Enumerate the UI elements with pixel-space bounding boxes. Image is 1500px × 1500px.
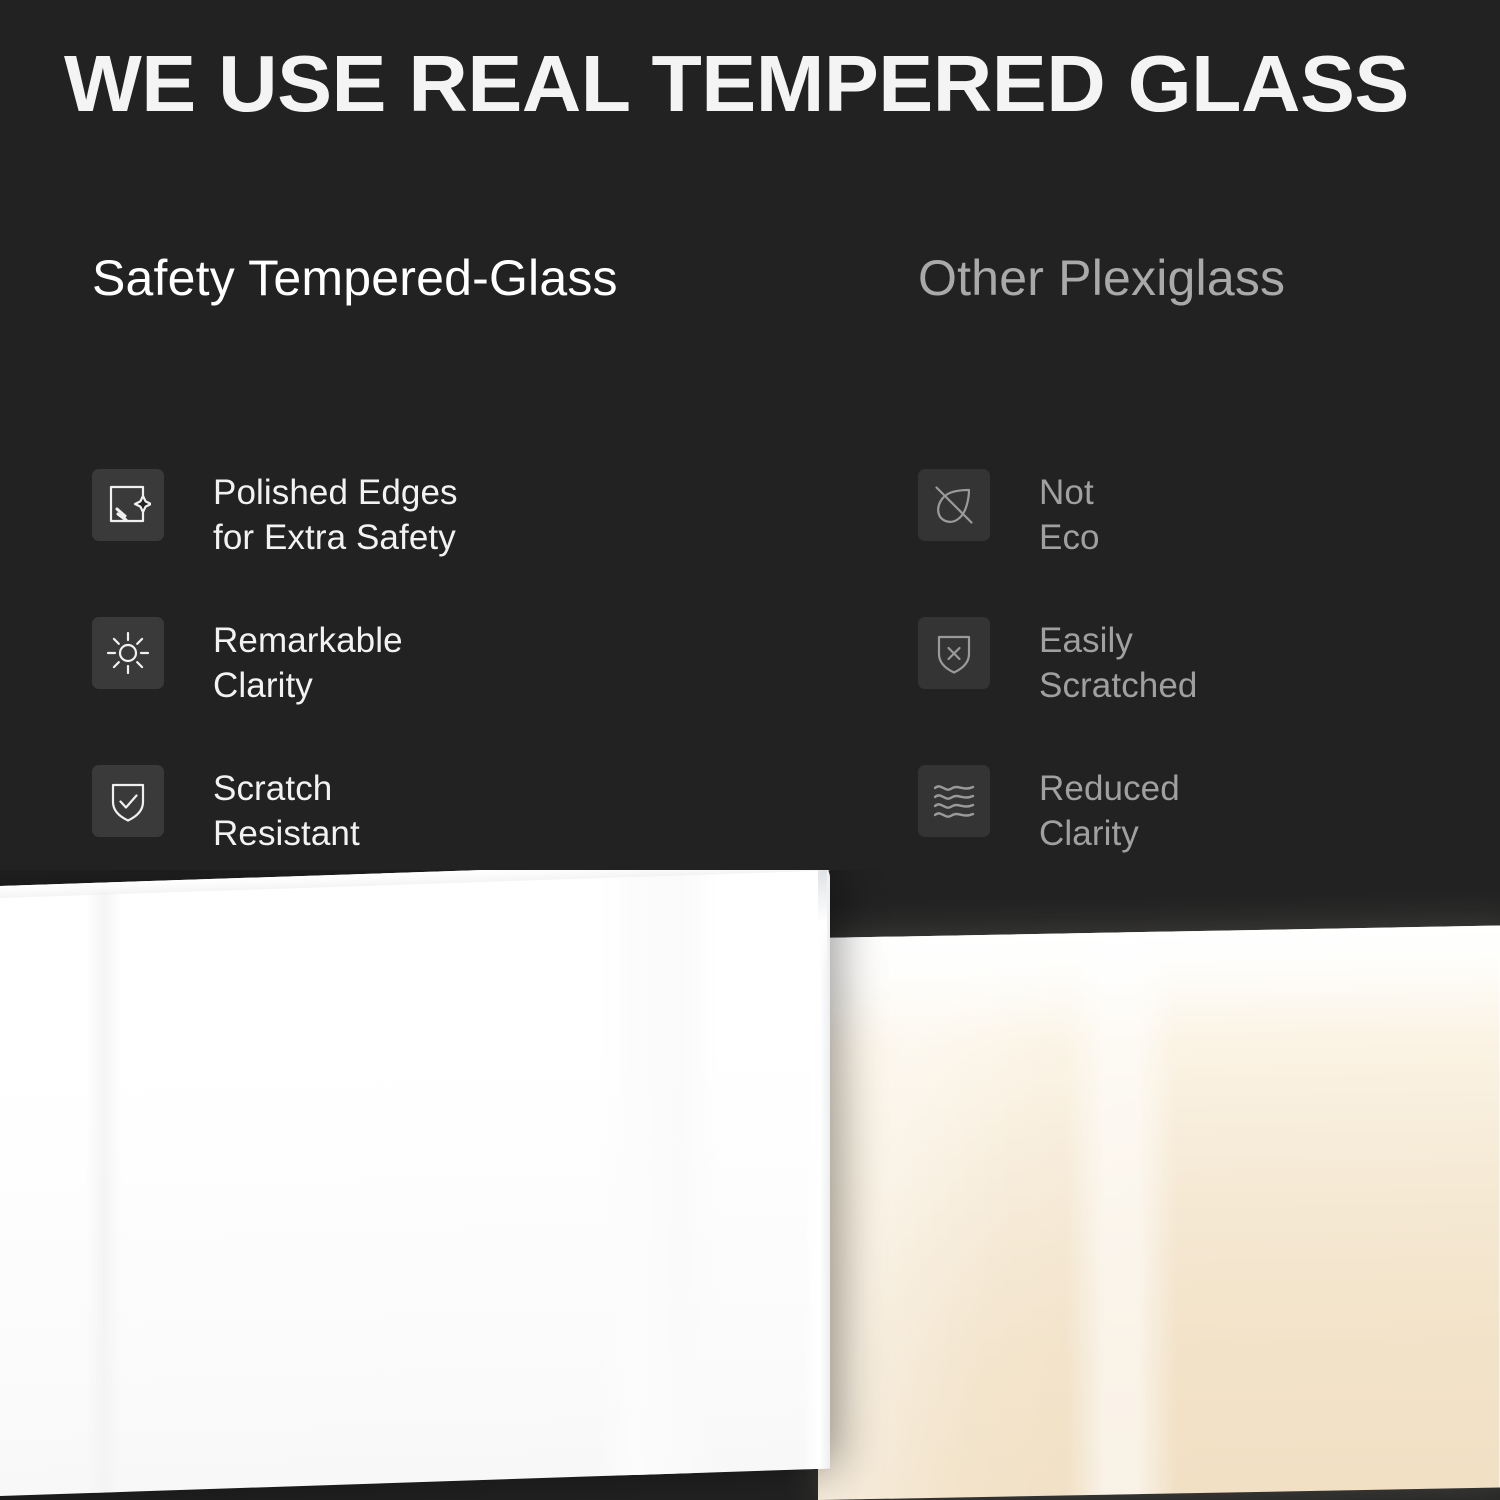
feature-label-line-2: for Extra Safety [213, 515, 458, 560]
column-title-line-2: Plexiglass [1058, 250, 1285, 306]
infographic-canvas: WE USE REAL TEMPERED GLASS Safety Temper… [0, 0, 1500, 1500]
feature-list: Polished Edges for Extra Safety Rem [92, 468, 852, 912]
column-safety-tempered-glass: Safety Tempered-Glass Polished Edges for… [92, 246, 852, 311]
feature-label-line-1: Easily [1039, 618, 1198, 663]
feature-label: Reduced Clarity [1039, 764, 1180, 856]
panel-reflection-band [1065, 931, 1177, 1495]
sun-brightness-icon [92, 617, 164, 689]
feature-label-line-1: Scratch [213, 766, 360, 811]
column-title-line-1: Other [918, 250, 1044, 306]
feature-label-line-2: Clarity [1039, 811, 1180, 856]
plexiglass-panel-yellowed [818, 925, 1500, 1500]
shield-x-icon [918, 617, 990, 689]
feature-list: Not Eco Easily Scratched [918, 468, 1478, 912]
feature-label-line-2: Clarity [213, 663, 403, 708]
column-other-plexiglass: Other Plexiglass Not Eco [918, 246, 1478, 311]
feature-label-line-2: Resistant [213, 811, 360, 856]
feature-label-line-2: Scratched [1039, 663, 1198, 708]
feature-item: Not Eco [918, 468, 1478, 616]
page-title: WE USE REAL TEMPERED GLASS [64, 44, 1500, 124]
column-title: Other Plexiglass [918, 246, 1478, 311]
panel-reflection-band [598, 870, 718, 1476]
column-title-line-1: Safety [92, 250, 235, 306]
feature-item: Remarkable Clarity [92, 616, 852, 764]
feature-label: Polished Edges for Extra Safety [213, 468, 458, 560]
panel-edge-specular-highlight [818, 870, 827, 977]
feature-label-line-1: Polished Edges [213, 470, 458, 515]
feature-label-line-1: Remarkable [213, 618, 403, 663]
column-title-line-2: Tempered-Glass [248, 250, 618, 306]
polished-glass-pane-sparkle-icon [92, 469, 164, 541]
shield-check-icon [92, 765, 164, 837]
feature-label: Easily Scratched [1039, 616, 1198, 708]
feature-label-line-1: Not [1039, 470, 1100, 515]
feature-item: Easily Scratched [918, 616, 1478, 764]
product-photo [0, 870, 1500, 1500]
feature-label-line-1: Reduced [1039, 766, 1180, 811]
feature-item: Polished Edges for Extra Safety [92, 468, 852, 616]
feature-label-line-2: Eco [1039, 515, 1100, 560]
column-title: Safety Tempered-Glass [92, 246, 852, 311]
feature-label: Not Eco [1039, 468, 1100, 560]
wavy-lines-blur-icon [918, 765, 990, 837]
leaf-slashed-icon [918, 469, 990, 541]
panel-reflection-band-inner [86, 882, 122, 1493]
tempered-glass-panel-white [0, 870, 830, 1500]
feature-label: Remarkable Clarity [213, 616, 403, 708]
feature-label: Scratch Resistant [213, 764, 360, 856]
